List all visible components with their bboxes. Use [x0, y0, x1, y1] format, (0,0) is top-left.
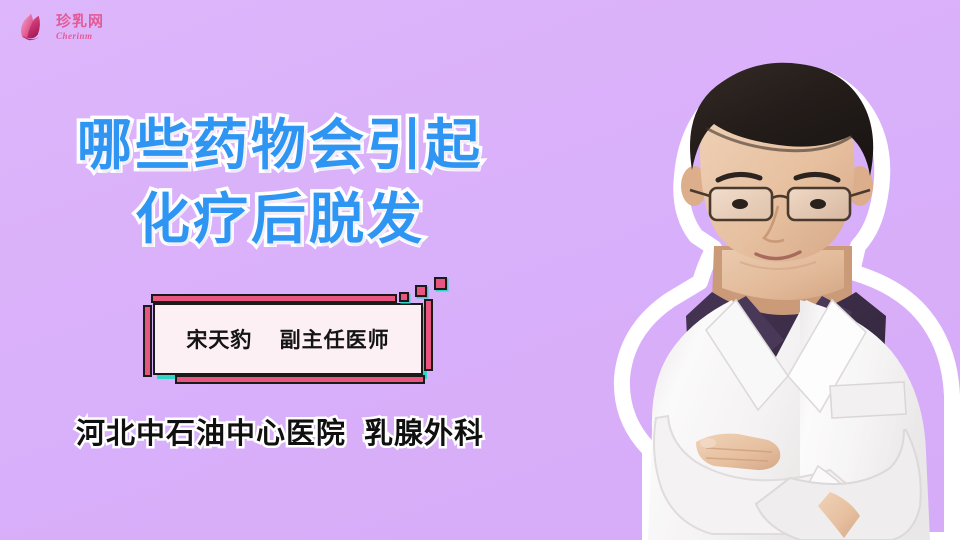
logo-chinese-text: 珍乳网 [56, 14, 104, 29]
logo-english-text: Cherinm [56, 32, 104, 41]
headline-line-2: 化疗后脱发 [0, 182, 560, 256]
nameplate-bar-bottom [175, 375, 425, 384]
nameplate-bar-left [143, 305, 152, 377]
doctor-nameplate: 宋天豹 副主任医师 [153, 303, 423, 375]
doctor-portrait-image [500, 0, 960, 540]
nameplate-bar-right [424, 299, 433, 371]
site-logo[interactable]: 珍乳网 Cherinm [14, 8, 104, 46]
hospital-department-text: 河北中石油中心医院 乳腺外科 [0, 410, 560, 452]
headline-line-1: 哪些药物会引起 [0, 108, 560, 182]
video-thumbnail: 珍乳网 Cherinm 哪些药物会引起 化疗后脱发 宋天豹 副主任医师 河北中石… [0, 0, 960, 540]
nameplate-bar-top [151, 294, 397, 303]
nameplate-decoration-square-medium [415, 285, 427, 297]
lotus-petal-logo-icon [14, 8, 52, 46]
nameplate-decoration-square-small [399, 292, 409, 302]
doctor-name-and-title: 宋天豹 副主任医师 [153, 303, 423, 375]
headline-title: 哪些药物会引起 化疗后脱发 [0, 108, 560, 257]
nameplate-decoration-square-large [434, 277, 447, 290]
